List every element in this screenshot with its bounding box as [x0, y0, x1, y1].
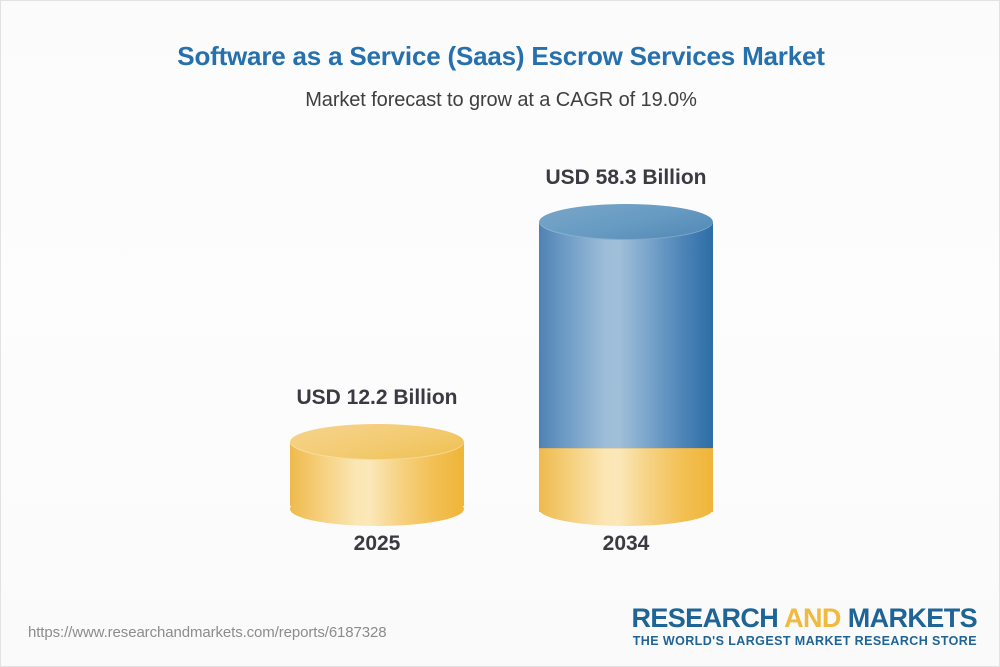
bar-top-cap-2034 [539, 204, 713, 240]
data-label-2034: USD 58.3 Billion [526, 166, 726, 190]
report-url[interactable]: https://www.researchandmarkets.com/repor… [28, 624, 387, 641]
bar-bottom-cap-2034 [539, 492, 713, 526]
brand-logo-wordmark: RESEARCH AND MARKETS [631, 604, 977, 632]
category-label-2034: 2034 [526, 532, 726, 556]
bar-body-2034 [539, 222, 713, 448]
bar-bottom-cap-2025 [290, 492, 464, 526]
brand-logo-research: RESEARCH [631, 603, 784, 633]
data-label-2025: USD 12.2 Billion [277, 386, 477, 410]
category-label-2025: 2025 [277, 532, 477, 556]
bar-cylinder-2034[interactable] [539, 204, 713, 513]
bar-segment-seam-2034 [539, 448, 713, 449]
bar-top-cap-2025 [290, 424, 464, 460]
brand-logo[interactable]: RESEARCH AND MARKETS THE WORLD'S LARGEST… [631, 604, 977, 648]
chart-canvas: Software as a Service (Saas) Escrow Serv… [0, 0, 1000, 667]
bar-cylinder-2025[interactable] [290, 424, 464, 513]
brand-logo-markets: MARKETS [841, 603, 977, 633]
brand-logo-and: AND [784, 603, 841, 633]
brand-logo-tagline: THE WORLD'S LARGEST MARKET RESEARCH STOR… [631, 634, 977, 648]
plot-area: USD 12.2 Billion USD 58.3 Billion 20 [1, 1, 1000, 601]
